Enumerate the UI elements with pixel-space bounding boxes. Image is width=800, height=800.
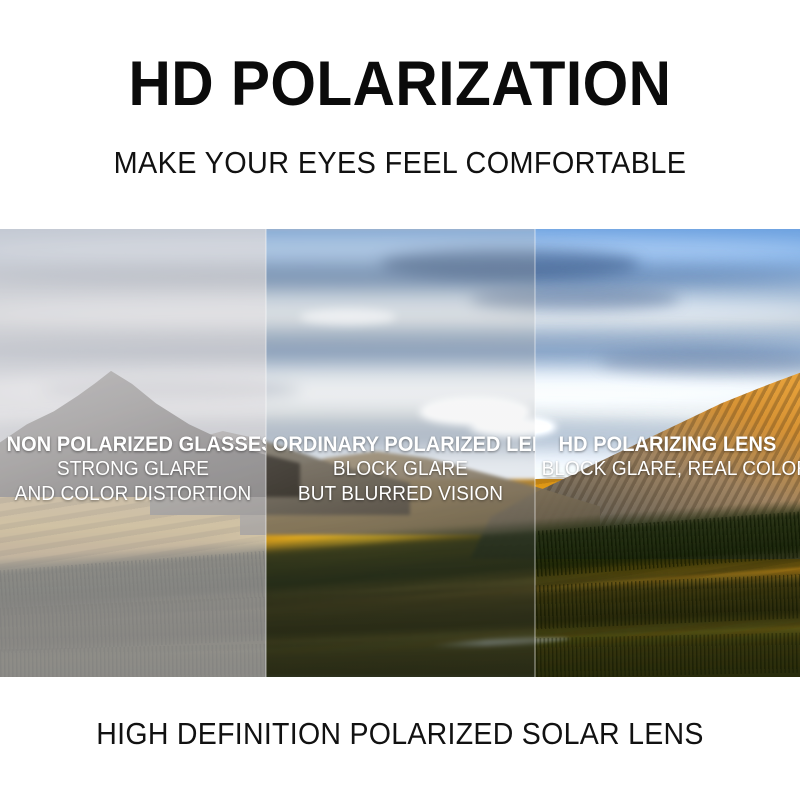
page-title: HD POLARIZATION [28,52,772,116]
comparison-panel-non-polarized: NON POLARIZED GLASSES STRONG GLARE AND C… [0,229,266,677]
comparison-panel-hd-polarizing: HD POLARIZING LENS BLOCK GLARE, REAL COL… [535,229,800,677]
landscape-scene-non-polarized [0,229,266,677]
landscape-scene-hd-polarizing [535,229,800,677]
page-subtitle: MAKE YOUR EYES FEEL COMFORTABLE [28,146,772,180]
footer-tagline: HIGH DEFINITION POLARIZED SOLAR LENS [32,716,768,752]
comparison-panel-ordinary-polarized: ORDINARY POLARIZED LENS BLOCK GLARE BUT … [266,229,535,677]
forest-texture [535,632,800,677]
cloud-band [266,333,535,363]
poster-root: HD POLARIZATION MAKE YOUR EYES FEEL COMF… [0,0,800,800]
cloud-puff [300,309,396,325]
landscape-scene-ordinary-polarized [266,229,535,677]
lens-comparison-image: NON POLARIZED GLASSES STRONG GLARE AND C… [0,229,800,677]
